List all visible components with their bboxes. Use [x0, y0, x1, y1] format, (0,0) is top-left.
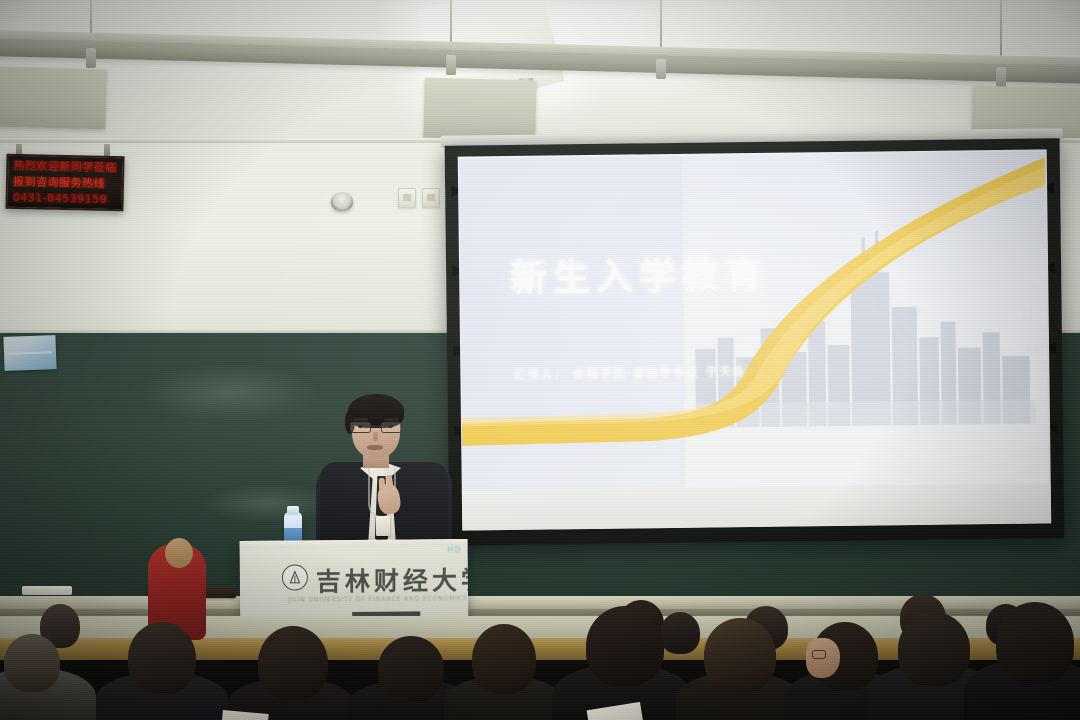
audience-head: [996, 602, 1074, 684]
audience-head: [586, 606, 664, 686]
wall-speaker: [331, 192, 353, 211]
slide-subtitle: 汇报人： 金融学院·金融学专业 于天磊: [514, 363, 746, 382]
power-outlet[interactable]: [398, 188, 416, 208]
audience-head: [258, 626, 328, 700]
projection-screen: 新生入学教育 汇报人： 金融学院·金融学专业 于天磊: [445, 138, 1065, 545]
presenter-finger: [379, 478, 385, 492]
audience-head: [704, 618, 776, 692]
presenter-nose: [373, 432, 378, 441]
light-baffle-panel: [0, 67, 107, 130]
slide-title: 新生入学教育: [510, 244, 769, 301]
taped-notice-poster: [3, 335, 56, 371]
rail-clip: [446, 55, 456, 75]
power-outlet[interactable]: [422, 188, 440, 208]
ceiling: [0, 0, 1080, 150]
led-sign-line-3: 0431-84539159: [13, 192, 117, 205]
presenter-eyebrow: [384, 418, 399, 421]
podium-badge: HD: [447, 545, 461, 554]
presenter-eyebrow: [353, 418, 368, 421]
slide-yellow-swoosh: [459, 178, 1049, 472]
presenter-eye: [388, 425, 393, 428]
presenter-mouth: [367, 445, 383, 450]
red-coat-hood: [165, 538, 193, 568]
audience-head: [472, 624, 536, 694]
audience-head: [898, 612, 970, 686]
audience-head: [4, 634, 60, 692]
light-baffle-panel: [423, 78, 536, 141]
projected-slide: 新生入学教育 汇报人： 金融学院·金融学专业 于天磊: [459, 151, 1049, 490]
rail-clip: [996, 67, 1006, 87]
podium-top-surface: [240, 539, 469, 549]
screen-surface: 新生入学教育 汇报人： 金融学院·金融学专业 于天磊: [458, 149, 1052, 530]
audience-head: [660, 612, 700, 654]
glasses-bridge: [371, 426, 381, 427]
led-scrolling-sign: 热烈欢迎新同学莅临指导 报到咨询服务热线 0431-84539159: [5, 154, 124, 211]
rail-clip: [656, 59, 666, 79]
audience: [0, 560, 1080, 720]
led-sign-line-1: 热烈欢迎新同学莅临指导: [13, 160, 117, 173]
chalk-smudge: [140, 363, 320, 423]
audience-head: [378, 636, 444, 702]
eyeglasses-icon: [812, 650, 826, 659]
led-sign-line-2: 报到咨询服务热线: [13, 176, 117, 189]
rail-clip: [86, 48, 96, 68]
lecture-hall-photo: 热烈欢迎新同学莅临指导 报到咨询服务热线 0431-84539159: [0, 0, 1080, 720]
audience-head: [128, 622, 196, 694]
presenter-id-badge: [376, 516, 390, 536]
presenter-eye: [358, 425, 363, 428]
screen-blank-area: [462, 483, 1051, 530]
water-bottle-cap: [287, 506, 299, 515]
presenter: [318, 392, 450, 562]
